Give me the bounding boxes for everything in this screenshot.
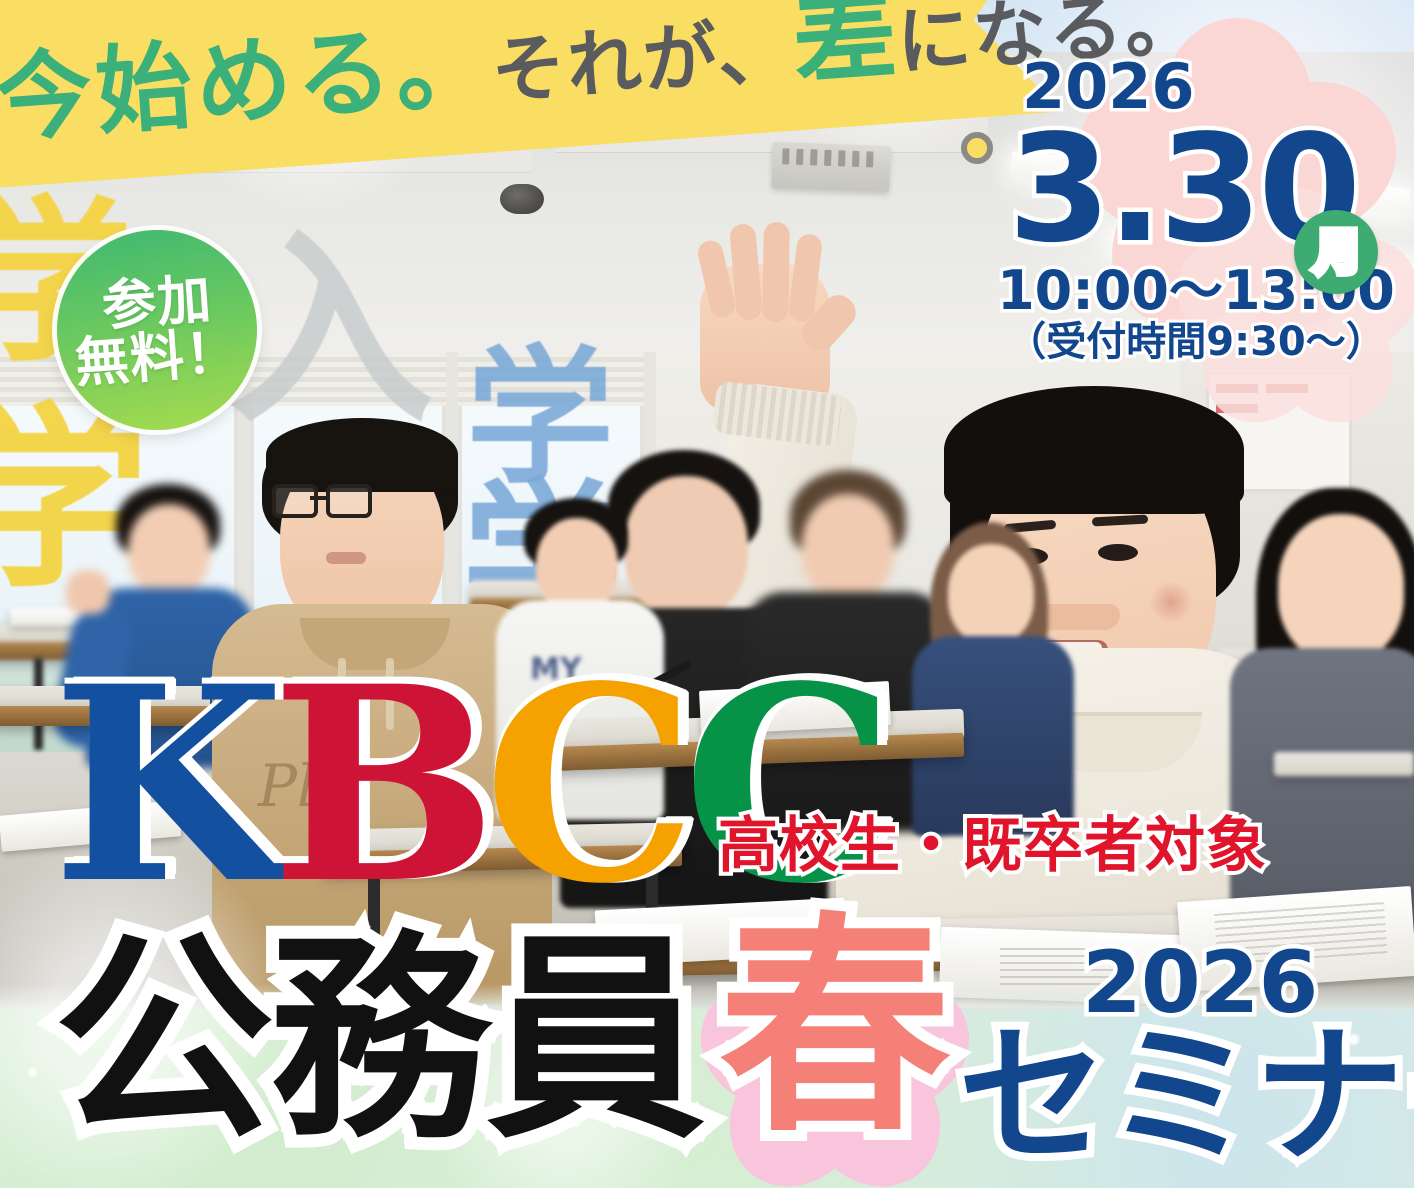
tagline-part-2: 。 [390,0,496,132]
event-weekday-badge: 月 [1294,210,1378,294]
free-participation-badge[interactable]: 参加 無料！ [57,230,257,430]
seminar-poster: 学 学 入 学 学 [0,0,1414,1188]
event-date-block: 2026 3.30 月 10:00〜13:00 （受付時間9:30〜） [996,56,1396,364]
tagline-part-4: 差 [786,0,901,106]
badge-line-2: 無料！ [73,324,241,390]
logo-letter-c1: C [483,676,682,896]
event-day: 3.30 月 [1008,118,1396,260]
ribbon-eyelet [961,132,993,164]
kbcc-logo: K B C C [52,676,882,924]
target-audience-label: 高校生・既卒者対象 [718,816,1267,876]
tagline-part-3: それが、 [487,0,796,119]
logo-letter-b: B [271,676,484,896]
event-reception-time: （受付時間9:30〜） [996,320,1396,364]
title-main: 公務員 [54,930,702,1150]
logo-letter-k: K [52,676,271,896]
title-seminar: セミナー [958,1022,1414,1172]
season-group: 春 [690,900,980,1188]
title-season: 春 [690,912,980,1144]
tagline-part-1: 今始める [0,0,400,161]
